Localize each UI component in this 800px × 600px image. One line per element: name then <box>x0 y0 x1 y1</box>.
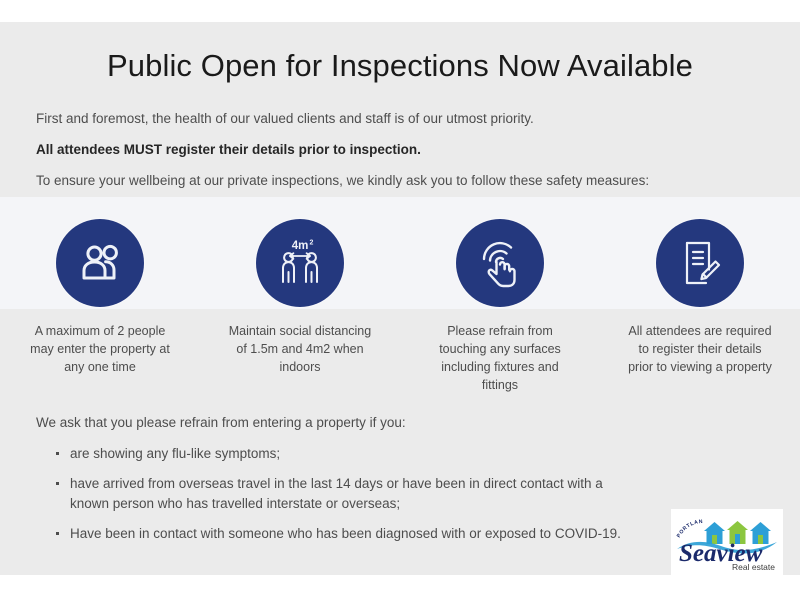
logo-tagline: Real estate <box>732 562 775 572</box>
no-touch-hand-icon <box>456 219 544 307</box>
two-people-icon <box>56 219 144 307</box>
intro-block: First and foremost, the health of our va… <box>0 84 800 191</box>
measure-caption: Please refrain from touching any surface… <box>425 322 575 395</box>
restrictions-list: are showing any flu-like symptoms; have … <box>36 444 764 543</box>
measure-item-1: A maximum of 2 people may enter the prop… <box>0 197 200 407</box>
register-form-pencil-icon <box>656 219 744 307</box>
list-item: are showing any flu-like symptoms; <box>70 444 764 463</box>
measure-caption: A maximum of 2 people may enter the prop… <box>25 322 175 376</box>
list-item: have arrived from overseas travel in the… <box>70 474 764 512</box>
poster-canvas: Public Open for Inspections Now Availabl… <box>0 22 800 575</box>
measure-item-3: Please refrain from touching any surface… <box>400 197 600 407</box>
page-title: Public Open for Inspections Now Availabl… <box>0 22 800 84</box>
safety-measures-strip: A maximum of 2 people may enter the prop… <box>0 197 800 407</box>
intro-line-2-bold: All attendees MUST register their detail… <box>36 128 764 159</box>
measure-caption: Maintain social distancing of 1.5m and 4… <box>225 322 375 376</box>
bullets-lead: We ask that you please refrain from ente… <box>36 414 764 432</box>
seaview-real-estate-logo: PORTLAND Seaview Real estate <box>671 509 783 575</box>
list-item: Have been in contact with someone who ha… <box>70 524 764 543</box>
intro-line-3: To ensure your wellbeing at our private … <box>36 159 764 190</box>
svg-text:2: 2 <box>310 240 314 247</box>
social-distancing-4m2-icon: 4m 2 <box>256 219 344 307</box>
intro-line-1: First and foremost, the health of our va… <box>36 84 764 128</box>
measure-item-4: All attendees are required to register t… <box>600 197 800 407</box>
measure-item-2: 4m 2 Ma <box>200 197 400 407</box>
measure-caption: All attendees are required to register t… <box>625 322 775 376</box>
svg-text:4m: 4m <box>292 240 309 252</box>
